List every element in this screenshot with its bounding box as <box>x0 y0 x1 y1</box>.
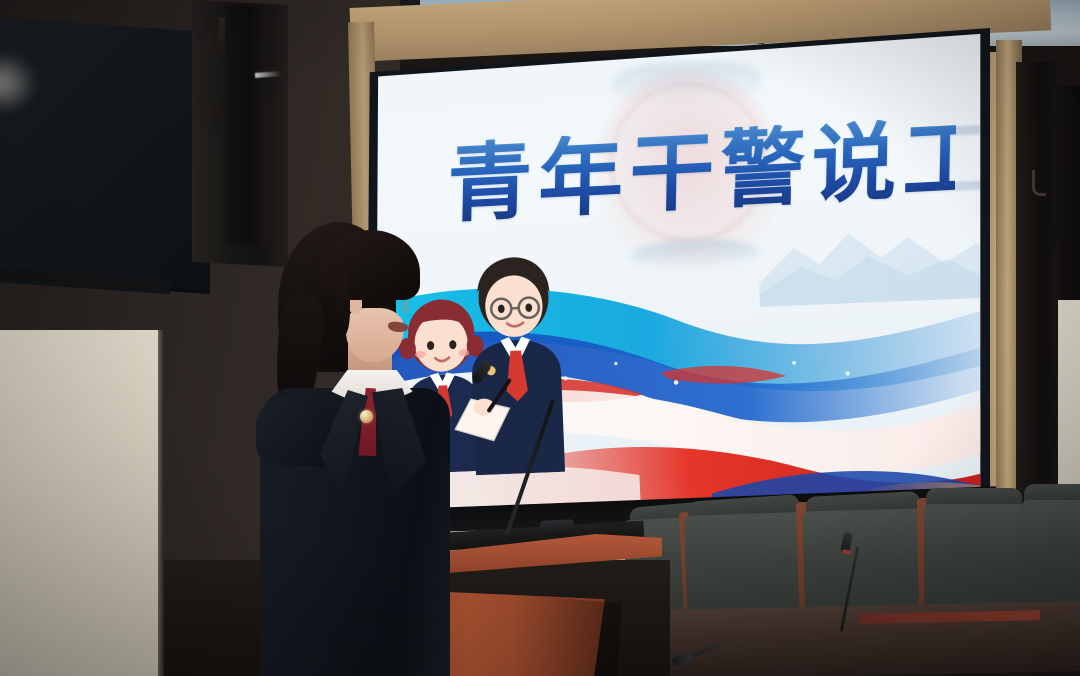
lectern-shadow <box>512 592 622 676</box>
microphone-base <box>540 519 575 537</box>
wall-tv-glare <box>0 52 38 114</box>
cartoon-officer-male <box>446 246 586 476</box>
speaker-lapel-badge-icon <box>360 410 373 423</box>
speaker-jaw <box>346 308 404 362</box>
speaker-nose <box>402 300 412 314</box>
screen-title: 青年干警说工作 <box>447 116 957 227</box>
podium-speaker <box>236 212 456 676</box>
left-cream-panel <box>0 330 158 676</box>
projection-screen: 青年干警说工作 <box>372 30 984 514</box>
wall-hook-icon <box>1032 170 1046 196</box>
wall-speaker-inner <box>225 5 267 245</box>
presentation-scene: 青年干警说工作 <box>0 0 1080 676</box>
speaker-hair-side <box>334 274 350 336</box>
